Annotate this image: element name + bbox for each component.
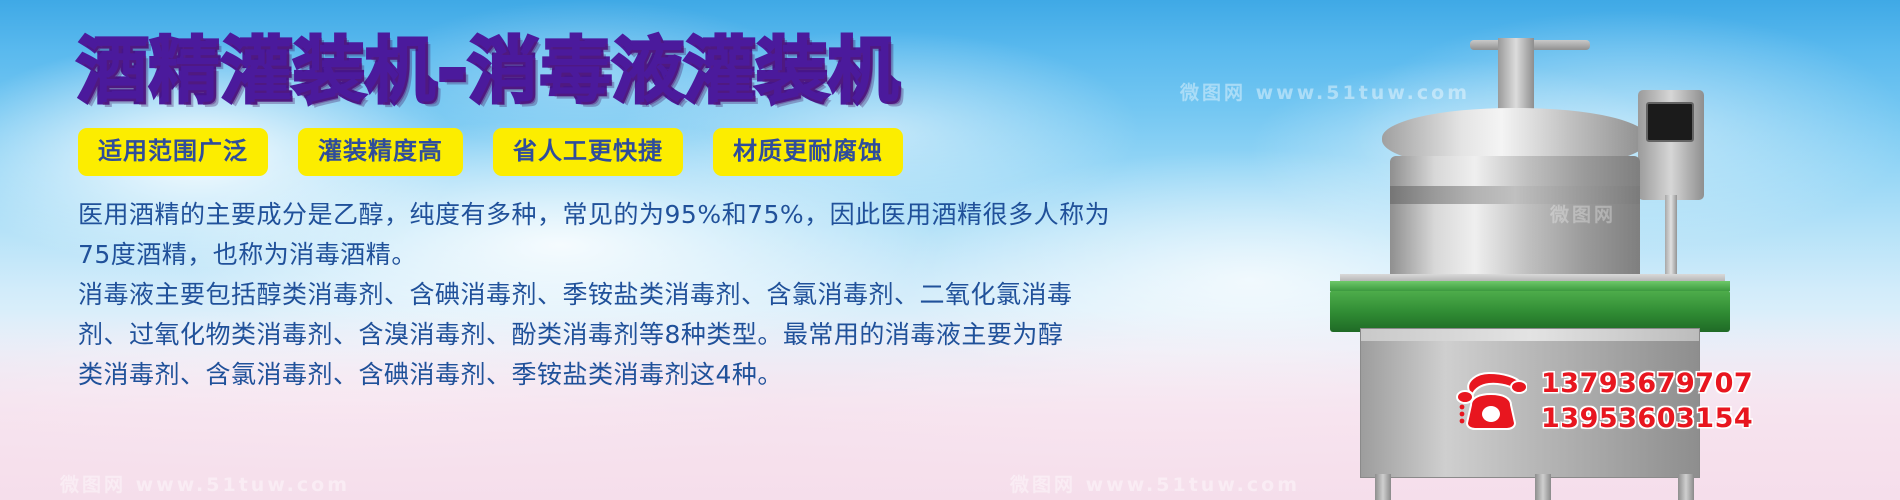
- description-line-5: 类消毒剂、含氯消毒剂、含碘消毒剂、季铵盐类消毒剂这4种。: [78, 356, 1138, 394]
- telephone-icon: [1455, 371, 1527, 433]
- banner-description: 医用酒精的主要成分是乙醇，纯度有多种，常见的为95%和75%，因此医用酒精很多人…: [78, 196, 1138, 394]
- banner-title: 酒精灌装机-消毒液灌装机: [78, 36, 1138, 106]
- feature-badge-3: 省人工更快捷: [493, 128, 683, 176]
- phone-number-list: 13793679707 13953603154: [1541, 368, 1753, 436]
- description-line-3: 消毒液主要包括醇类消毒剂、含碘消毒剂、季铵盐类消毒剂、含氯消毒剂、二氧化氯消毒: [78, 276, 1138, 314]
- phone-number-primary[interactable]: 13793679707: [1541, 368, 1753, 401]
- machine-display-screen: [1646, 102, 1694, 142]
- machine-foot: [1535, 474, 1551, 500]
- feature-badge-4: 材质更耐腐蚀: [713, 128, 903, 176]
- machine-rotary-drum: [1390, 156, 1640, 278]
- banner-content: 酒精灌装机-消毒液灌装机 适用范围广泛 灌装精度高 省人工更快捷 材质更耐腐蚀 …: [78, 36, 1138, 394]
- description-line-1: 医用酒精的主要成分是乙醇，纯度有多种，常见的为95%和75%，因此医用酒精很多人…: [78, 196, 1138, 234]
- machine-control-panel: [1638, 90, 1704, 200]
- phone-number-secondary[interactable]: 13953603154: [1541, 403, 1753, 436]
- machine-mast: [1498, 38, 1534, 116]
- machine-foot: [1375, 474, 1391, 500]
- feature-badge-list: 适用范围广泛 灌装精度高 省人工更快捷 材质更耐腐蚀: [78, 128, 1138, 176]
- machine-conveyor: [1330, 290, 1730, 332]
- contact-block[interactable]: 13793679707 13953603154: [1455, 368, 1753, 436]
- feature-badge-1: 适用范围广泛: [78, 128, 268, 176]
- description-line-4: 剂、过氧化物类消毒剂、含溴消毒剂、酚类消毒剂等8种类型。最常用的消毒液主要为醇: [78, 316, 1138, 354]
- feature-badge-2: 灌装精度高: [298, 128, 463, 176]
- description-line-2: 75度酒精，也称为消毒酒精。: [78, 236, 1138, 274]
- machine-foot: [1678, 474, 1694, 500]
- promo-banner: 酒精灌装机-消毒液灌装机 适用范围广泛 灌装精度高 省人工更快捷 材质更耐腐蚀 …: [0, 0, 1900, 500]
